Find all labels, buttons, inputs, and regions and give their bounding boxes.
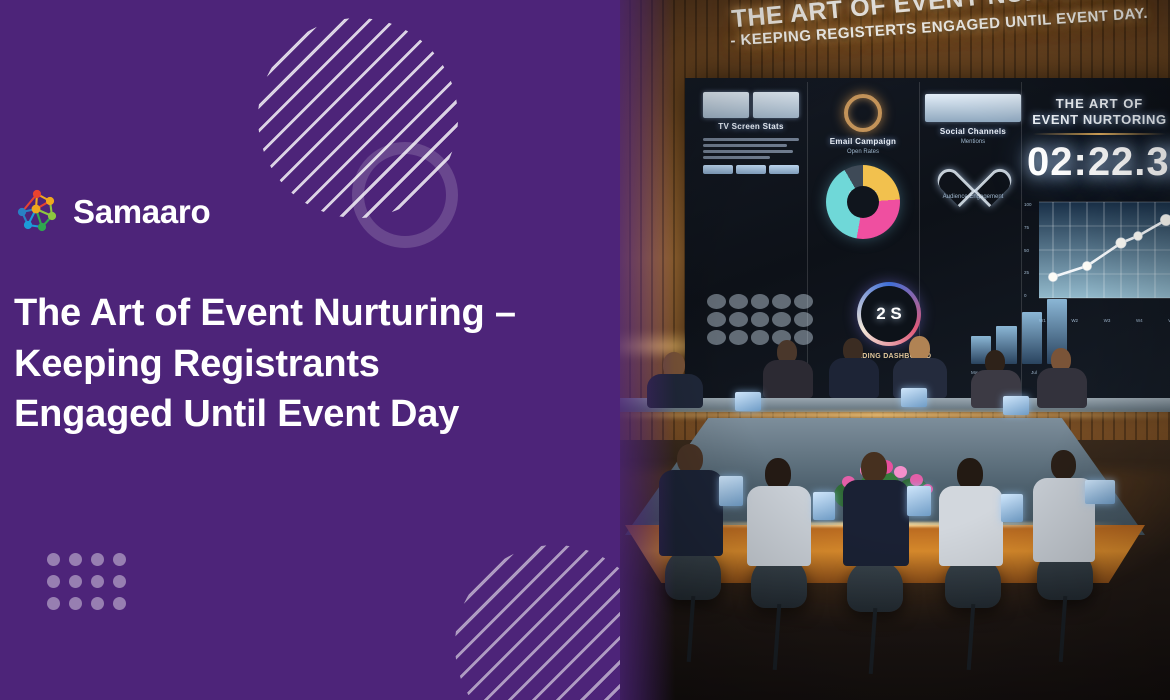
social-panel-subtitle: Mentions (925, 139, 1021, 147)
heart-icon (953, 153, 993, 189)
social-panel-caption: Audience Engagement (925, 194, 1021, 202)
info-chips (703, 165, 799, 174)
countdown-timer: 02:22.39 (1027, 141, 1170, 183)
brand-name: Samaaro (73, 195, 210, 228)
tablet-screen (813, 492, 835, 520)
countdown-title-line2: EVENT NURTORING (1027, 112, 1170, 127)
dot-grid-icon (47, 553, 135, 619)
laptop-screen (1085, 480, 1115, 504)
outline-ring-icon (352, 142, 458, 248)
left-purple-panel: Samaaro The Art of Event Nurturing – Kee… (0, 0, 620, 700)
open-rate-donut-chart: OPEN RATE (826, 165, 900, 239)
attendee-avatar-grid (707, 286, 813, 345)
laptop-screen (1003, 396, 1029, 415)
network-nodes-icon (12, 186, 62, 236)
diagonal-hatch-circle-bottom-icon (455, 545, 620, 700)
info-tile (753, 92, 799, 118)
info-placeholder-lines (703, 138, 799, 159)
page-title: The Art of Event Nurturing – Keeping Reg… (14, 288, 544, 440)
social-channels-panel: Social Channels Mentions Audience Engage… (925, 94, 1021, 202)
countdown-divider (1033, 133, 1166, 135)
email-ring-icon (844, 94, 882, 132)
blog-hero-banner: Samaaro The Art of Event Nurturing – Kee… (0, 0, 1170, 700)
laptop-screen (735, 392, 761, 411)
samaaro-logo[interactable]: Samaaro (12, 186, 210, 236)
tablet-screen (907, 486, 931, 516)
email-panel-subtitle: Open Rates (813, 149, 913, 157)
donut-center-label: OPEN RATE (826, 191, 900, 198)
social-preview-tile (925, 94, 1021, 122)
tablet-screen (1001, 494, 1023, 522)
social-panel-title: Social Channels (925, 127, 1021, 137)
email-panel-title: Email Campaign (813, 137, 913, 147)
hero-illustration: TV Screen Stats (585, 0, 1170, 700)
chair (847, 560, 903, 612)
progress-ring-icon: 2 S (857, 282, 921, 346)
swirl-number: 2 S (876, 304, 902, 324)
info-tile (703, 92, 749, 118)
email-campaign-panel: Email Campaign Open Rates OPEN RATE (813, 94, 913, 239)
countdown-title-line1: THE ART OF (1027, 96, 1170, 111)
laptop-screen (901, 388, 927, 407)
dashboard-info-panel: TV Screen Stats (703, 92, 799, 174)
info-panel-title: TV Screen Stats (703, 122, 799, 132)
countdown-panel: THE ART OF EVENT NURTORING 02:22.39 (1027, 96, 1170, 183)
tablet-screen (719, 476, 743, 506)
